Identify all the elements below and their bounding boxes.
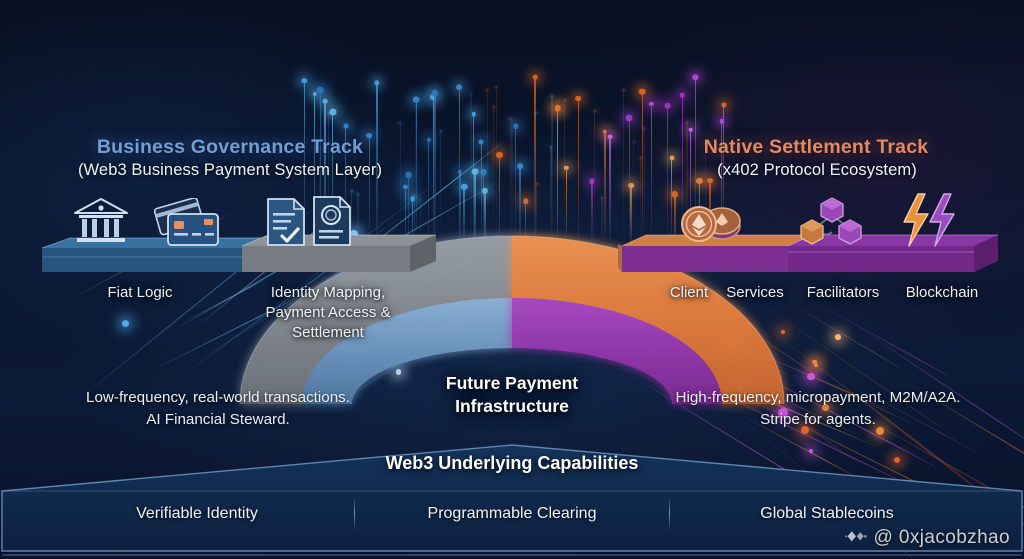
particle-node (639, 88, 646, 95)
platform-label-client: Client (660, 283, 718, 303)
particle-node (302, 78, 308, 84)
center-label-line2: Infrastructure (397, 395, 627, 418)
particle-node (563, 98, 566, 101)
particle-node (692, 74, 697, 79)
particle-node (533, 75, 538, 80)
particle-node (329, 108, 336, 115)
particle-node (643, 127, 646, 130)
right-track-title: Native Settlement Track (606, 136, 1024, 159)
particle-node (622, 89, 625, 92)
particle-node (486, 89, 489, 92)
right-track-description: High-frequency, micropayment, M2M/A2A. S… (630, 387, 1006, 430)
platform-label-identity-mapping: Identity Mapping, Payment Access & Settl… (228, 283, 428, 342)
lightning-bolts-icon (898, 192, 962, 253)
watermark-handle: @ 0xjacobzhao (874, 527, 1010, 549)
particle-node (603, 130, 608, 135)
particle-node (456, 84, 462, 90)
particle-node (664, 102, 671, 109)
particle-node (686, 120, 689, 123)
right-track-subtitle: (x402 Protocol Ecosystem) (582, 161, 1024, 180)
infographic-canvas: Business Governance Track (Web3 Business… (0, 0, 1024, 559)
particle-node (495, 85, 498, 88)
particle-node (534, 112, 537, 115)
base-capability-row: Verifiable Identity Programmable Clearin… (40, 491, 984, 537)
platform-label-services: Services (714, 283, 796, 303)
credit-cards-icon (148, 198, 224, 255)
particle-node (626, 115, 633, 122)
particle-node (479, 139, 484, 144)
particle-node (719, 119, 724, 124)
platform-label-facilitators: Facilitators (794, 283, 892, 303)
document-check-icon (264, 196, 308, 253)
left-track-description: Low-frequency, real-world transactions. … (26, 387, 410, 430)
particle-node (343, 123, 348, 128)
particle-node (317, 87, 323, 93)
particle-node (471, 112, 476, 117)
particle-node (323, 99, 328, 104)
certificate-seal-icon (310, 194, 354, 253)
watermark: @ 0xjacobzhao (845, 527, 1010, 549)
base-cell-programmable-clearing: Programmable Clearing (355, 505, 669, 523)
particle-node (439, 129, 442, 132)
particle-node (432, 90, 438, 96)
platform-label-fiat-logic: Fiat Logic (60, 283, 220, 303)
left-track-subtitle: (Web3 Business Payment System Layer) (0, 161, 465, 180)
particle-node (327, 112, 330, 115)
particle-node (312, 92, 316, 96)
left-track-title: Business Governance Track (20, 136, 440, 159)
particle-node (413, 96, 420, 103)
particle-node (374, 80, 379, 85)
ethereum-coins-icon (676, 198, 748, 253)
base-title: Web3 Underlying Capabilities (0, 453, 1024, 474)
particle-node (492, 106, 495, 109)
base-cell-global-stablecoins: Global Stablecoins (670, 505, 984, 523)
particle-node (414, 104, 417, 107)
particle-node (575, 96, 581, 102)
blockchain-cubes-icon (798, 194, 866, 253)
particle-node (549, 145, 552, 148)
particle-node (513, 124, 518, 129)
particle-node (688, 127, 693, 132)
particle-node (399, 121, 402, 124)
particle-node (649, 101, 653, 105)
center-label-line1: Future Payment (397, 372, 627, 395)
particle-node (430, 94, 436, 100)
particle-node (554, 105, 561, 112)
particle-node (509, 118, 512, 121)
bank-icon (72, 196, 130, 251)
particle-node (511, 119, 514, 122)
particle-node (721, 102, 726, 107)
center-label: Future Payment Infrastructure (397, 372, 627, 418)
particle-node (680, 93, 685, 98)
particle-node (555, 106, 560, 111)
particle-node (550, 95, 553, 98)
platform-label-blockchain: Blockchain (890, 283, 994, 303)
particle-node (470, 92, 473, 95)
diamond-cluster-icon (845, 529, 867, 547)
particle-node (593, 109, 596, 112)
base-cell-verifiable-identity: Verifiable Identity (40, 505, 354, 523)
